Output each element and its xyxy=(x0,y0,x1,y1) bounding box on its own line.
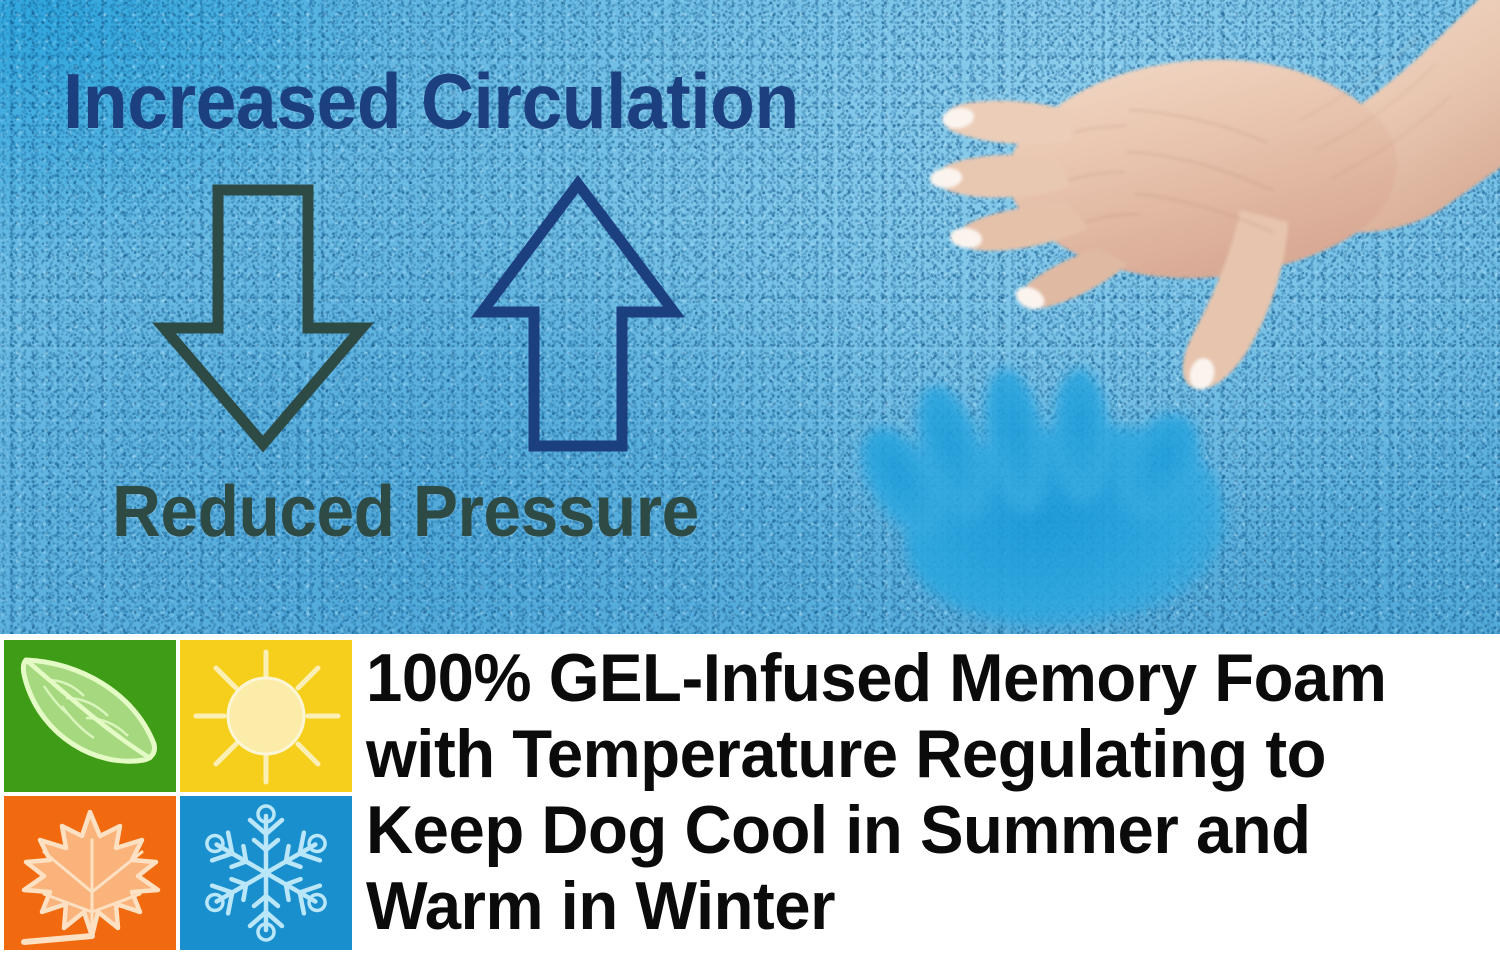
gel-foam-panel: Increased Circulation Reduced Pressure xyxy=(0,0,1500,634)
snowflake-icon xyxy=(180,796,352,950)
headline-line-3: Keep Dog Cool in Summer and xyxy=(366,792,1449,868)
reduced-pressure-label: Reduced Pressure xyxy=(112,476,699,548)
sun-icon xyxy=(180,640,352,792)
increased-circulation-label: Increased Circulation xyxy=(63,62,799,140)
maple-leaf-icon xyxy=(4,796,176,950)
season-tile-summer xyxy=(180,640,352,792)
headline-line-1: 100% GEL-Infused Memory Foam xyxy=(366,640,1449,716)
feature-caption-section: 100% GEL-Infused Memory Foam with Temper… xyxy=(0,634,1500,962)
headline-text: 100% GEL-Infused Memory Foam with Temper… xyxy=(366,640,1494,944)
headline-line-2: with Temperature Regulating to xyxy=(366,716,1449,792)
season-tiles-grid xyxy=(4,640,352,958)
product-graphic: Increased Circulation Reduced Pressure xyxy=(0,0,1500,962)
season-tile-autumn xyxy=(4,796,176,950)
handprint-impression xyxy=(843,302,1311,634)
down-arrow-icon xyxy=(148,176,378,458)
season-tile-spring xyxy=(4,640,176,792)
headline-line-4: Warm in Winter xyxy=(366,868,1449,944)
up-arrow-icon xyxy=(468,170,688,460)
season-tile-winter xyxy=(180,796,352,950)
leaf-icon xyxy=(4,640,176,792)
